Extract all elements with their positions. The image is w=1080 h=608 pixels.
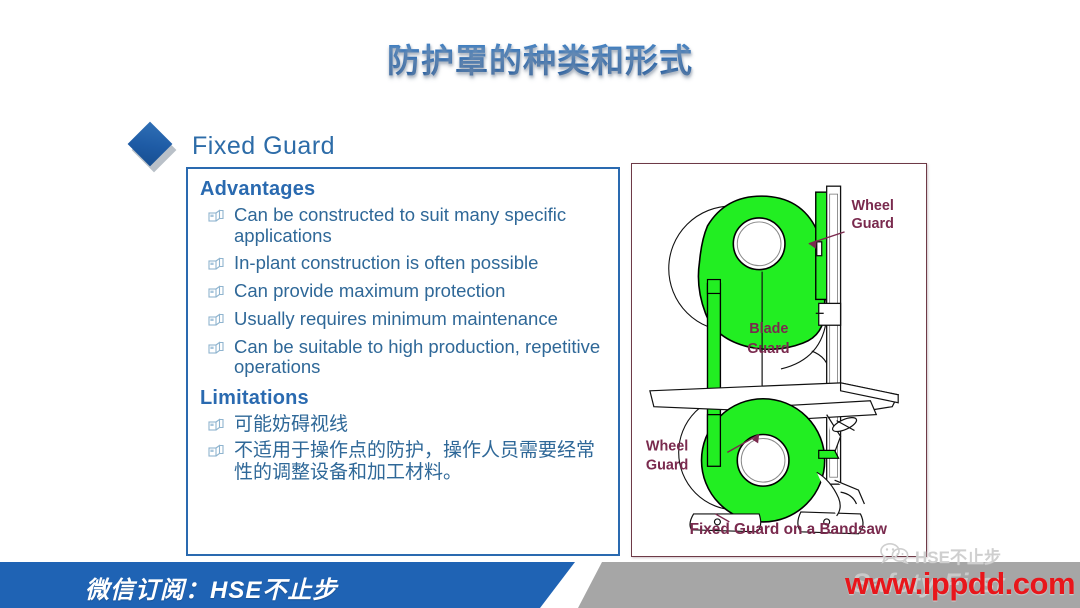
label-wheel-guard-bottom-line2: Guard [646, 457, 688, 473]
slide-canvas: 防护罩的种类和形式防护罩的种类和形式 Fixed Guard Advantage… [0, 0, 1080, 608]
footer-subscribe-text: 微信订阅：HSE不止步 [85, 570, 337, 605]
page-title-text: 防护罩的种类和形式 [387, 34, 693, 82]
list-item-text: Usually requires minimum maintenance [234, 308, 558, 329]
page-title: 防护罩的种类和形式防护罩的种类和形式 [0, 34, 1080, 90]
page-bullet-icon [208, 284, 227, 299]
diamond-bullet-icon [128, 122, 172, 166]
content-panel: Advantages Can be constructed to suit ma… [186, 167, 620, 556]
wechat-brand: HSE不止步 [880, 542, 1001, 569]
label-blade-guard-line2: Guard [747, 341, 789, 357]
section-label: Fixed Guard [192, 132, 335, 161]
bandsaw-figure: Wheel Guard Blade Guard Wheel Guard Fixe… [631, 163, 927, 557]
label-wheel-guard-bottom-line1: Wheel [646, 438, 688, 454]
page-bullet-icon [208, 340, 227, 355]
list-item: Can be suitable to high production, repe… [208, 337, 610, 378]
label-wheel-guard-top-line1: Wheel [852, 198, 894, 214]
list-item-text: In-plant construction is often possible [234, 252, 538, 273]
page-bullet-icon [208, 256, 227, 271]
wechat-label: HSE不止步 [915, 543, 1001, 568]
page-bullet-icon [208, 208, 227, 223]
figure-caption: Fixed Guard on a Bandsaw [690, 521, 887, 538]
list-item: In-plant construction is often possible [208, 253, 610, 274]
list-item: 不适用于操作点的防护，操作人员需要经常性的调整设备和加工材料。 [208, 440, 610, 484]
limitations-list: 可能妨碍视线 不适用于操作点的防护，操作人员需要经常性的调整设备和加工材料。 [188, 414, 618, 484]
list-item: Can be constructed to suit many specific… [208, 205, 610, 246]
site-watermark: www.ippdd.com [845, 566, 1075, 602]
page-bullet-icon [208, 443, 227, 458]
list-item-text: 可能妨碍视线 [234, 414, 348, 435]
page-bullet-icon [208, 417, 227, 432]
bandsaw-diagram: Wheel Guard Blade Guard Wheel Guard Fixe… [632, 164, 926, 556]
list-item-text: Can provide maximum protection [234, 280, 505, 301]
advantages-heading: Advantages [200, 178, 618, 201]
limitations-heading: Limitations [200, 387, 618, 410]
list-item-text: 不适用于操作点的防护，操作人员需要经常性的调整设备和加工材料。 [234, 440, 595, 483]
page-bullet-icon [208, 312, 227, 327]
label-blade-guard-line1: Blade [749, 321, 788, 337]
label-wheel-guard-top-line2: Guard [852, 216, 894, 232]
list-item-text: Can be suitable to high production, repe… [234, 336, 600, 378]
list-item: Can provide maximum protection [208, 281, 610, 302]
list-item: 可能妨碍视线 [208, 414, 610, 436]
list-item-text: Can be constructed to suit many specific… [234, 204, 566, 246]
advantages-list: Can be constructed to suit many specific… [188, 205, 618, 378]
wechat-icon [880, 542, 910, 569]
list-item: Usually requires minimum maintenance [208, 309, 610, 330]
